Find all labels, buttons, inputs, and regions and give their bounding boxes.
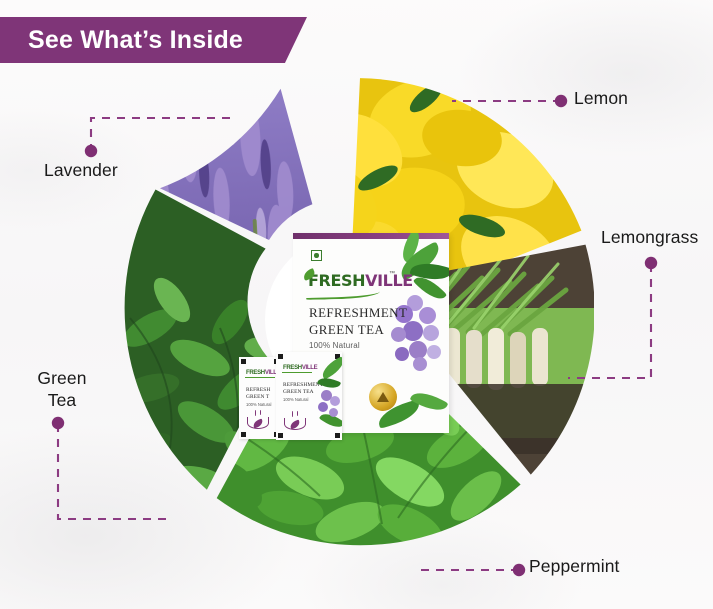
label-lemon: Lemon [574,88,628,110]
tear-notch-icon [241,432,246,437]
label-lavender: Lavender [44,160,118,182]
tear-notch-icon [335,433,340,438]
sachet-large: FRESHVILLE REFRESHMENT GREEN TEA 100% Na… [276,352,342,440]
tear-notch-icon [278,354,283,359]
leader-dot-greentea [52,417,64,429]
trademark-symbol: ™ [389,271,395,277]
leaf-decor-icon [319,356,342,379]
lavender-decor-icon [318,402,328,412]
box-top-stripe [293,233,449,239]
tea-cup-icon [247,411,271,429]
sachet-brand-logo: FRESHVILLE [283,365,317,371]
product-tagline: 100% Natural [309,341,360,350]
lavender-decor-icon [329,408,338,417]
sachet-product-name: REFRESH GREEN T [246,387,270,401]
page-title: See What’s Inside [28,26,243,55]
leader-dot-lavender [85,145,97,157]
lavender-decor-icon [330,396,340,406]
vegetarian-mark-icon [311,250,322,261]
product-name: REFRESHMENT GREEN TEA [309,305,407,338]
leader-dot-lemongrass [645,257,657,269]
sachet-tagline: 100% Natural [246,402,271,407]
tear-notch-icon [241,359,246,364]
certification-badge-icon [369,383,397,411]
badge-triangle-glyph [377,392,389,402]
label-peppermint: Peppermint [529,556,620,578]
leaf-decor-icon [410,386,449,416]
leader-dot-peppermint [513,564,525,576]
sachet-tagline: 100% Natural [283,397,308,402]
tear-notch-icon [278,433,283,438]
label-green-tea: Green Tea [30,368,94,412]
sachet-product-name: REFRESHMENT GREEN TEA [283,382,323,396]
label-lemongrass: Lemongrass [601,227,698,249]
sachet-small: FRESHVILLE REFRESH GREEN T 100% Natural [239,357,281,439]
banner-ribbon: See What’s Inside [0,17,307,63]
tea-cup-icon [284,412,308,430]
brand-swoosh-icon [306,287,380,300]
